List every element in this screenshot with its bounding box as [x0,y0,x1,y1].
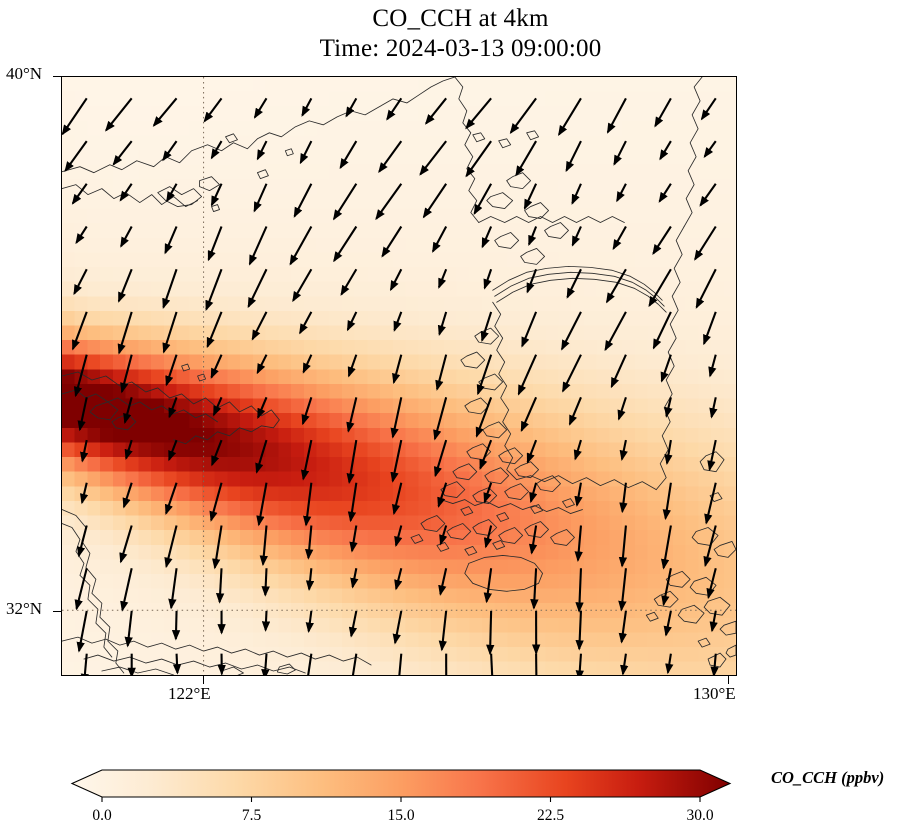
figure-subtitle: Time: 2024-03-13 09:00:00 [0,34,921,64]
wind-vector-overlay [62,77,736,675]
x-tick-label-130e: 130°E [693,684,736,704]
page-title: CO_CCH at 4km [0,4,921,34]
y-tick-mark-40n [53,76,61,77]
map-plot-area[interactable] [61,76,737,676]
y-tick-label-40n: 40°N [6,64,42,84]
x-tick-mark-122e [203,676,204,684]
y-tick-mark-32n [53,611,61,612]
x-tick-label-122e: 122°E [168,684,211,704]
x-tick-mark-130e [728,676,729,684]
colorbar-tick-label: 0.0 [92,807,111,825]
colorbar-tick-label: 30.0 [686,807,713,825]
figure-title-block: CO_CCH at 4km Time: 2024-03-13 09:00:00 [0,4,921,63]
colorbar-tick-label: 15.0 [387,807,414,825]
colorbar[interactable]: CO_CCH (ppbv) 0.07.515.022.530.0 [0,760,921,836]
colorbar-title: CO_CCH (ppbv) [771,768,884,788]
y-tick-label-32n: 32°N [6,599,42,619]
colorbar-tick-label: 22.5 [537,807,564,825]
colorbar-tick-label: 7.5 [242,807,261,825]
